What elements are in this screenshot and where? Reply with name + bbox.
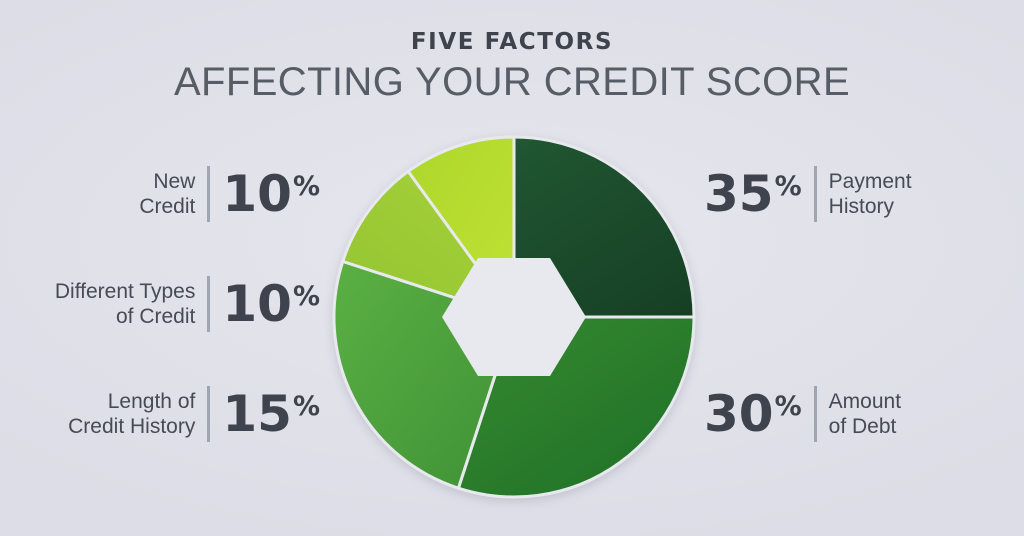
callout-divider bbox=[814, 386, 817, 442]
title-main: AFFECTING YOUR CREDIT SCORE bbox=[0, 57, 1024, 107]
callout-new-credit-value: 10% bbox=[222, 169, 320, 219]
callout-divider bbox=[207, 386, 210, 442]
callout-payment-history-label-line1: Payment bbox=[829, 169, 912, 194]
callout-length-history-label-line2: Credit History bbox=[68, 414, 195, 439]
infographic-canvas: FIVE FACTORS AFFECTING YOUR CREDIT SCORE bbox=[0, 0, 1024, 536]
callout-payment-history-number: 35 bbox=[704, 169, 774, 219]
callout-payment-history-label-line2: History bbox=[829, 194, 912, 219]
callout-amount-debt-label-line2: of Debt bbox=[829, 414, 901, 439]
percent-symbol: % bbox=[775, 393, 802, 420]
callout-different-types-number: 10 bbox=[222, 279, 292, 329]
percent-symbol: % bbox=[293, 393, 320, 420]
callout-divider bbox=[207, 276, 210, 332]
callout-different-types-of-credit[interactable]: Different Types of Credit 10% bbox=[20, 276, 320, 332]
percent-symbol: % bbox=[293, 283, 320, 310]
callout-length-history-number: 15 bbox=[222, 389, 292, 439]
title-kicker: FIVE FACTORS bbox=[0, 30, 1024, 55]
callout-divider bbox=[207, 166, 210, 222]
percent-symbol: % bbox=[293, 173, 320, 200]
callout-amount-of-debt[interactable]: 30% Amount of Debt bbox=[704, 386, 1004, 442]
callout-length-history-value: 15% bbox=[222, 389, 320, 439]
credit-score-pie-chart bbox=[332, 132, 696, 502]
callout-payment-history-value: 35% bbox=[704, 169, 802, 219]
callout-payment-history[interactable]: 35% Payment History bbox=[704, 166, 1004, 222]
callout-amount-debt-label: Amount of Debt bbox=[829, 389, 901, 439]
callout-amount-debt-number: 30 bbox=[704, 389, 774, 439]
pie-chart-svg bbox=[332, 132, 696, 502]
page-title: FIVE FACTORS AFFECTING YOUR CREDIT SCORE bbox=[0, 30, 1024, 107]
callout-different-types-label-line1: Different Types bbox=[55, 279, 195, 304]
percent-symbol: % bbox=[775, 173, 802, 200]
callout-different-types-value: 10% bbox=[222, 279, 320, 329]
callout-amount-debt-label-line1: Amount bbox=[829, 389, 901, 414]
callout-new-credit-number: 10 bbox=[222, 169, 292, 219]
callout-different-types-label-line2: of Credit bbox=[55, 304, 195, 329]
callout-new-credit-label-line1: New bbox=[139, 169, 195, 194]
callout-length-of-credit-history[interactable]: Length of Credit History 15% bbox=[40, 386, 320, 442]
callout-new-credit[interactable]: New Credit 10% bbox=[110, 166, 320, 222]
callout-amount-debt-value: 30% bbox=[704, 389, 802, 439]
callout-different-types-label: Different Types of Credit bbox=[55, 279, 195, 329]
callout-divider bbox=[814, 166, 817, 222]
callout-payment-history-label: Payment History bbox=[829, 169, 912, 219]
callout-new-credit-label: New Credit bbox=[139, 169, 195, 219]
callout-length-history-label-line1: Length of bbox=[68, 389, 195, 414]
callout-new-credit-label-line2: Credit bbox=[139, 194, 195, 219]
callout-length-history-label: Length of Credit History bbox=[68, 389, 195, 439]
